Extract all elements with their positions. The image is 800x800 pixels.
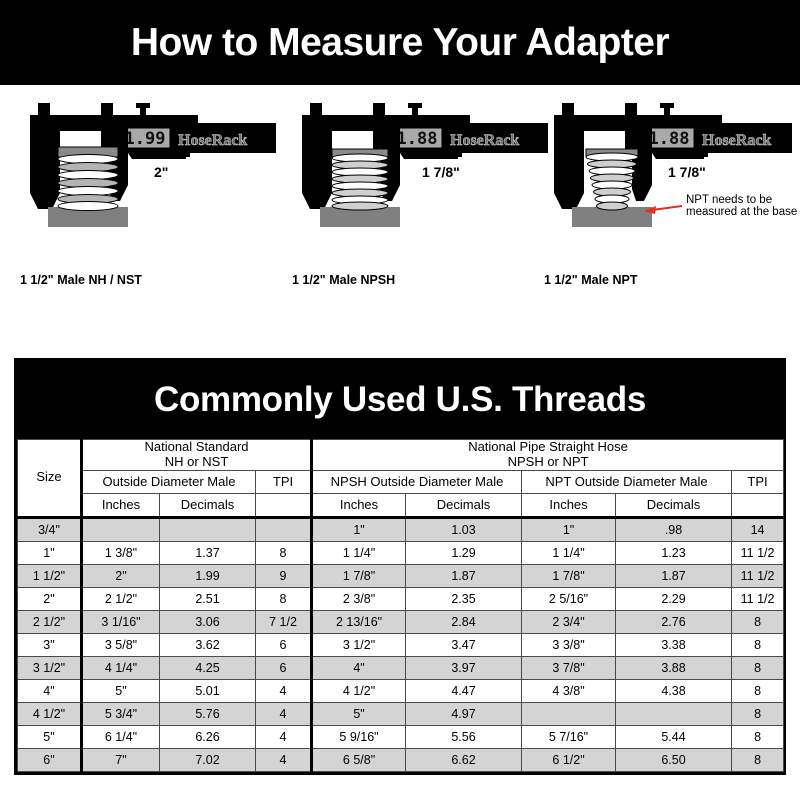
- cell-size: 5": [18, 725, 82, 748]
- cell-npsh-dec: 2.84: [406, 610, 522, 633]
- cell-nh-dec: 6.26: [160, 725, 256, 748]
- cell-npt-in: 2 5/16": [522, 587, 616, 610]
- figure-nh-nst: 1.99 HoseRack 2": [8, 85, 276, 355]
- cell-npsh-in: 1": [312, 517, 406, 541]
- cell-nh-tpi: 4: [256, 748, 312, 771]
- cell-nh-dec: 5.76: [160, 702, 256, 725]
- npt-annotation-line2: measured at the base: [686, 206, 797, 218]
- header-npt-od-male: NPT Outside Diameter Male: [522, 470, 732, 493]
- header-npsh-decimals: Decimals: [406, 493, 522, 517]
- cell-nh-dec: 3.06: [160, 610, 256, 633]
- cell-size: 4": [18, 679, 82, 702]
- cell-npt-in: 6 1/2": [522, 748, 616, 771]
- cell-size: 3 1/2": [18, 656, 82, 679]
- cell-npsh-in: 1 7/8": [312, 564, 406, 587]
- cell-np-tpi: 14: [732, 517, 784, 541]
- lcd-reading: 1.88: [649, 129, 690, 149]
- cell-npt-dec: 2.76: [616, 610, 732, 633]
- cell-nh-dec: 5.01: [160, 679, 256, 702]
- cell-nh-tpi: 8: [256, 587, 312, 610]
- header-np-line1: National Pipe Straight Hose: [313, 440, 783, 455]
- cell-npt-dec: [616, 702, 732, 725]
- cell-size: 4 1/2": [18, 702, 82, 725]
- lcd-reading: 1.88: [397, 129, 438, 149]
- cell-nh-in: [82, 517, 160, 541]
- cell-npt-in: 1": [522, 517, 616, 541]
- cell-nh-in: 2": [82, 564, 160, 587]
- cell-np-tpi: 11 1/2: [732, 564, 784, 587]
- header-group-national-standard: National Standard NH or NST: [82, 440, 312, 471]
- cell-size: 1": [18, 541, 82, 564]
- figure-caption-npt: 1 1/2" Male NPT: [544, 273, 637, 287]
- cell-nh-dec: 1.99: [160, 564, 256, 587]
- table-header-group-row: Size National Standard NH or NST Nationa…: [18, 440, 784, 471]
- cell-nh-tpi: 4: [256, 702, 312, 725]
- table-row: 2"2 1/2"2.5182 3/8"2.352 5/16"2.2911 1/2: [18, 587, 784, 610]
- cell-npt-in: 4 3/8": [522, 679, 616, 702]
- cell-npsh-dec: 6.62: [406, 748, 522, 771]
- page-title: How to Measure Your Adapter: [131, 21, 669, 65]
- cell-npsh-dec: 1.03: [406, 517, 522, 541]
- cell-npsh-dec: 3.47: [406, 633, 522, 656]
- cell-npsh-in: 4 1/2": [312, 679, 406, 702]
- cell-size: 1 1/2": [18, 564, 82, 587]
- cell-size: 2 1/2": [18, 610, 82, 633]
- cell-nh-tpi: 7 1/2: [256, 610, 312, 633]
- cell-nh-in: 3 1/16": [82, 610, 160, 633]
- cell-nh-dec: [160, 517, 256, 541]
- measurement-label: 1 7/8": [668, 164, 706, 180]
- cell-npt-dec: 3.38: [616, 633, 732, 656]
- header-tpi-np: TPI: [732, 470, 784, 493]
- cell-npt-dec: 1.23: [616, 541, 732, 564]
- cell-nh-in: 7": [82, 748, 160, 771]
- cell-npt-in: 3 3/8": [522, 633, 616, 656]
- cell-np-tpi: 11 1/2: [732, 541, 784, 564]
- cell-nh-dec: 3.62: [160, 633, 256, 656]
- cell-nh-dec: 4.25: [160, 656, 256, 679]
- cell-np-tpi: 8: [732, 748, 784, 771]
- header-ns-line2: NH or NST: [83, 455, 310, 470]
- cell-nh-tpi: 6: [256, 633, 312, 656]
- cell-npt-dec: 5.44: [616, 725, 732, 748]
- cell-np-tpi: 8: [732, 702, 784, 725]
- cell-npsh-in: 4": [312, 656, 406, 679]
- cell-npt-in: 5 7/16": [522, 725, 616, 748]
- cell-np-tpi: 8: [732, 633, 784, 656]
- cell-np-tpi: 8: [732, 656, 784, 679]
- cell-npt-dec: 2.29: [616, 587, 732, 610]
- threads-table-body: 3/4"1"1.031".98141"1 3/8"1.3781 1/4"1.29…: [18, 517, 784, 771]
- caliper-illustration-nh-nst: 1.99 HoseRack 2": [8, 85, 276, 285]
- cell-nh-tpi: 4: [256, 725, 312, 748]
- cell-nh-tpi: [256, 517, 312, 541]
- table-title-banner: Commonly Used U.S. Threads: [17, 361, 783, 439]
- cell-np-tpi: 8: [732, 610, 784, 633]
- cell-npsh-dec: 1.29: [406, 541, 522, 564]
- cell-nh-in: 5 3/4": [82, 702, 160, 725]
- table-row: 4"5"5.0144 1/2"4.474 3/8"4.388: [18, 679, 784, 702]
- header-ns-inches: Inches: [82, 493, 160, 517]
- table-row: 5"6 1/4"6.2645 9/16"5.565 7/16"5.448: [18, 725, 784, 748]
- cell-np-tpi: 8: [732, 679, 784, 702]
- tapered-thread-profile: [586, 149, 638, 210]
- cell-nh-in: 1 3/8": [82, 541, 160, 564]
- header-np-line2: NPSH or NPT: [313, 455, 783, 470]
- brand-label: HoseRack: [450, 132, 519, 149]
- table-row: 6"7"7.0246 5/8"6.626 1/2"6.508: [18, 748, 784, 771]
- page-header-banner: How to Measure Your Adapter: [0, 0, 800, 85]
- cell-npt-dec: 1.87: [616, 564, 732, 587]
- cell-nh-dec: 1.37: [160, 541, 256, 564]
- cell-npt-in: [522, 702, 616, 725]
- npt-annotation-line1: NPT needs to be: [686, 194, 772, 206]
- table-header-unit-row: Inches Decimals Inches Decimals Inches D…: [18, 493, 784, 517]
- cell-nh-tpi: 8: [256, 541, 312, 564]
- caliper-illustration-npt: 1.88 HoseRack 1 7/8": [532, 85, 800, 285]
- cell-np-tpi: 8: [732, 725, 784, 748]
- cell-npt-in: 1 7/8": [522, 564, 616, 587]
- cell-npsh-dec: 4.97: [406, 702, 522, 725]
- cell-npt-dec: 4.38: [616, 679, 732, 702]
- brand-label: HoseRack: [178, 132, 247, 149]
- cell-nh-dec: 2.51: [160, 587, 256, 610]
- table-row: 2 1/2"3 1/16"3.067 1/22 13/16"2.842 3/4"…: [18, 610, 784, 633]
- table-row: 1 1/2"2"1.9991 7/8"1.871 7/8"1.8711 1/2: [18, 564, 784, 587]
- cell-npt-in: 3 7/8": [522, 656, 616, 679]
- measurement-label: 2": [154, 164, 168, 180]
- header-npsh-inches: Inches: [312, 493, 406, 517]
- figure-npt: 1.88 HoseRack 1 7/8": [532, 85, 800, 355]
- table-row: 4 1/2"5 3/4"5.7645"4.978: [18, 702, 784, 725]
- table-row: 3/4"1"1.031".9814: [18, 517, 784, 541]
- cell-npsh-dec: 5.56: [406, 725, 522, 748]
- cell-nh-tpi: 9: [256, 564, 312, 587]
- cell-np-tpi: 11 1/2: [732, 587, 784, 610]
- header-npt-decimals: Decimals: [616, 493, 732, 517]
- cell-nh-tpi: 4: [256, 679, 312, 702]
- cell-size: 2": [18, 587, 82, 610]
- figure-caption-nh-nst: 1 1/2" Male NH / NST: [20, 273, 142, 287]
- cell-npsh-dec: 4.47: [406, 679, 522, 702]
- cell-size: 3/4": [18, 517, 82, 541]
- header-np-tpi-blank: [732, 493, 784, 517]
- caliper-diagram-strip: 1.99 HoseRack 2": [0, 85, 800, 355]
- cell-npt-dec: 3.88: [616, 656, 732, 679]
- header-od-male: Outside Diameter Male: [82, 470, 256, 493]
- cell-nh-in: 6 1/4": [82, 725, 160, 748]
- lcd-reading: 1.99: [125, 129, 166, 149]
- threads-table-block: Commonly Used U.S. Threads Size National…: [14, 358, 786, 775]
- header-ns-decimals: Decimals: [160, 493, 256, 517]
- cell-nh-in: 3 5/8": [82, 633, 160, 656]
- cell-npsh-dec: 1.87: [406, 564, 522, 587]
- cell-npsh-in: 2 13/16": [312, 610, 406, 633]
- header-ns-line1: National Standard: [83, 440, 310, 455]
- table-header-sub-row: Outside Diameter Male TPI NPSH Outside D…: [18, 470, 784, 493]
- cell-npsh-dec: 2.35: [406, 587, 522, 610]
- cell-npsh-in: 6 5/8": [312, 748, 406, 771]
- cell-npt-dec: 6.50: [616, 748, 732, 771]
- cell-nh-in: 4 1/4": [82, 656, 160, 679]
- cell-npsh-in: 2 3/8": [312, 587, 406, 610]
- cell-npsh-dec: 3.97: [406, 656, 522, 679]
- cell-npsh-in: 1 1/4": [312, 541, 406, 564]
- cell-npsh-in: 5": [312, 702, 406, 725]
- brand-label: HoseRack: [702, 132, 771, 149]
- table-row: 1"1 3/8"1.3781 1/4"1.291 1/4"1.2311 1/2: [18, 541, 784, 564]
- header-size: Size: [18, 440, 82, 518]
- cell-size: 3": [18, 633, 82, 656]
- header-ns-tpi-blank: [256, 493, 312, 517]
- cell-npsh-in: 5 9/16": [312, 725, 406, 748]
- table-row: 3 1/2"4 1/4"4.2564"3.973 7/8"3.888: [18, 656, 784, 679]
- measurement-label: 1 7/8": [422, 164, 460, 180]
- table-title: Commonly Used U.S. Threads: [154, 380, 646, 420]
- cell-nh-in: 2 1/2": [82, 587, 160, 610]
- cell-npt-in: 2 3/4": [522, 610, 616, 633]
- cell-npsh-in: 3 1/2": [312, 633, 406, 656]
- cell-npt-in: 1 1/4": [522, 541, 616, 564]
- figure-npsh: 1.88 HoseRack 1 7/8" 1 1/2" Male NPSH: [280, 85, 548, 355]
- cell-size: 6": [18, 748, 82, 771]
- cell-nh-tpi: 6: [256, 656, 312, 679]
- table-row: 3"3 5/8"3.6263 1/2"3.473 3/8"3.388: [18, 633, 784, 656]
- header-tpi-ns: TPI: [256, 470, 312, 493]
- cell-nh-dec: 7.02: [160, 748, 256, 771]
- figure-caption-npsh: 1 1/2" Male NPSH: [292, 273, 395, 287]
- header-npt-inches: Inches: [522, 493, 616, 517]
- header-npsh-od-male: NPSH Outside Diameter Male: [312, 470, 522, 493]
- cell-npt-dec: .98: [616, 517, 732, 541]
- caliper-illustration-npsh: 1.88 HoseRack 1 7/8": [280, 85, 548, 285]
- cell-nh-in: 5": [82, 679, 160, 702]
- threads-table: Size National Standard NH or NST Nationa…: [17, 439, 784, 772]
- header-group-national-pipe: National Pipe Straight Hose NPSH or NPT: [312, 440, 784, 471]
